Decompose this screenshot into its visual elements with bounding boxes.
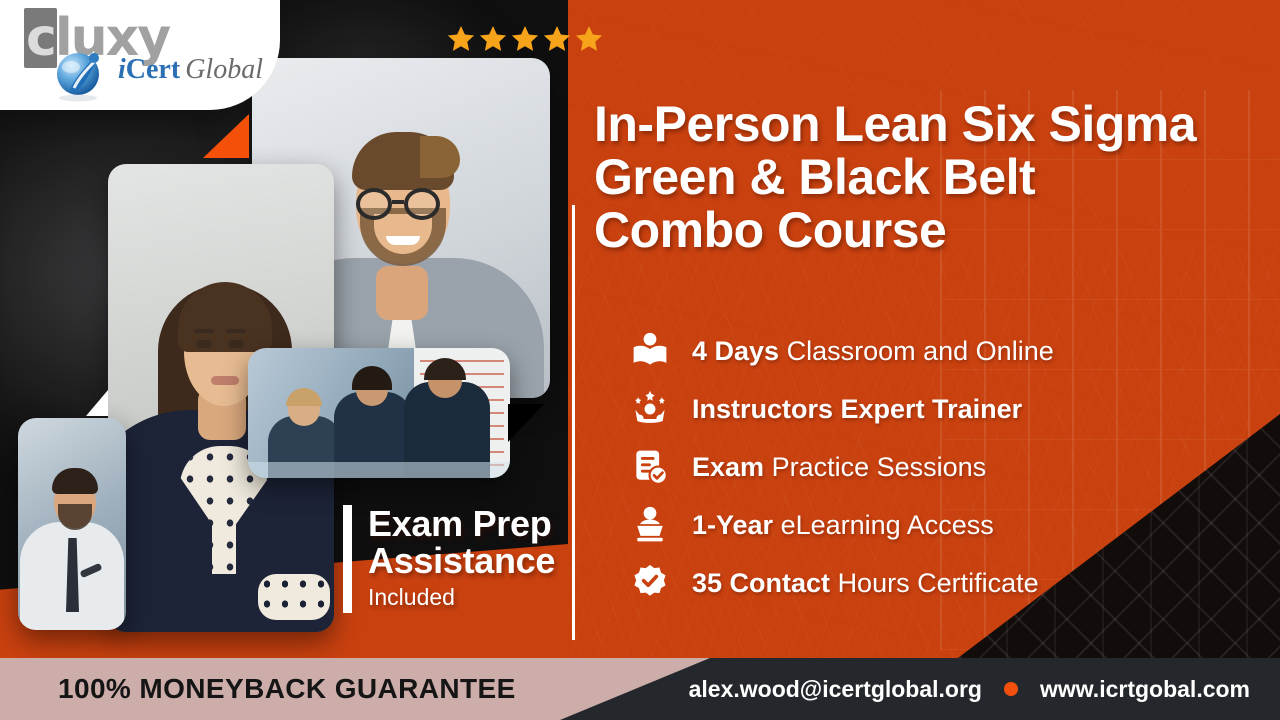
contact-email[interactable]: alex.wood@icertglobal.org <box>689 676 982 703</box>
expert-trainer-icon <box>628 387 672 431</box>
feature-item: 35 Contact Hours Certificate <box>628 554 1054 612</box>
icert-global-wordmark: iCertGlobal <box>118 54 263 86</box>
course-title: In-Person Lean Six Sigma Green & Black B… <box>594 98 1274 257</box>
logo-global: Global <box>185 54 263 85</box>
feature-rest: eLearning Access <box>781 510 994 540</box>
photo-team-meeting <box>248 348 510 478</box>
star-icon <box>542 24 572 54</box>
course-title-line-1: In-Person Lean Six Sigma <box>594 98 1274 151</box>
star-icon <box>574 24 604 54</box>
exam-prep-line-2: Assistance <box>368 542 555 579</box>
exam-prep-note: Included <box>368 584 555 611</box>
feature-item: Exam Practice Sessions <box>628 438 1054 496</box>
badge-check-icon <box>628 561 672 605</box>
feature-rest: Classroom and Online <box>787 336 1054 366</box>
feature-text: Exam Practice Sessions <box>692 454 986 481</box>
open-book-reader-icon <box>628 329 672 373</box>
exam-prep-callout: Exam Prep Assistance Included <box>343 505 555 613</box>
rating-stars <box>446 24 604 54</box>
exam-document-check-icon <box>628 445 672 489</box>
feature-text: 1-Year eLearning Access <box>692 512 994 539</box>
feature-bold: Instructors Expert Trainer <box>692 394 1022 424</box>
feature-item: 4 Days Classroom and Online <box>628 322 1054 380</box>
podium-speaker-icon <box>628 503 672 547</box>
feature-text: 35 Contact Hours Certificate <box>692 570 1039 597</box>
logo-cert: Cert <box>126 54 180 85</box>
contact-website[interactable]: www.icrtgobal.com <box>1040 676 1250 703</box>
dot-icon <box>1004 682 1018 696</box>
vertical-divider <box>572 205 575 640</box>
moneyback-guarantee-text: 100% MONEYBACK GUARANTEE <box>58 658 516 720</box>
star-icon <box>478 24 508 54</box>
brand-logo[interactable]: cluxy iCertGlobal <box>22 6 262 106</box>
exam-prep-line-1: Exam Prep <box>368 505 555 542</box>
feature-rest: Hours Certificate <box>838 568 1039 598</box>
feature-bold: Exam <box>692 452 764 482</box>
globe-person-icon <box>50 42 112 104</box>
logo-i: i <box>118 54 126 85</box>
star-icon <box>446 24 476 54</box>
feature-bold: 4 Days <box>692 336 779 366</box>
feature-bold: 35 Contact <box>692 568 830 598</box>
course-title-line-3: Combo Course <box>594 204 1274 257</box>
feature-text: 4 Days Classroom and Online <box>692 338 1054 365</box>
photo-man-whiteboard <box>18 418 126 630</box>
feature-list: 4 Days Classroom and Online Instructors … <box>628 322 1054 612</box>
promo-banner: cluxy iCertGlobal In <box>0 0 1280 720</box>
footer-contact: alex.wood@icertglobal.org www.icrtgobal.… <box>689 658 1250 720</box>
accent-bar <box>343 505 352 613</box>
feature-bold: 1-Year <box>692 510 773 540</box>
feature-rest: Practice Sessions <box>772 452 987 482</box>
feature-text: Instructors Expert Trainer <box>692 396 1022 423</box>
feature-item: Instructors Expert Trainer <box>628 380 1054 438</box>
star-icon <box>510 24 540 54</box>
course-title-line-2: Green & Black Belt <box>594 151 1274 204</box>
feature-item: 1-Year eLearning Access <box>628 496 1054 554</box>
